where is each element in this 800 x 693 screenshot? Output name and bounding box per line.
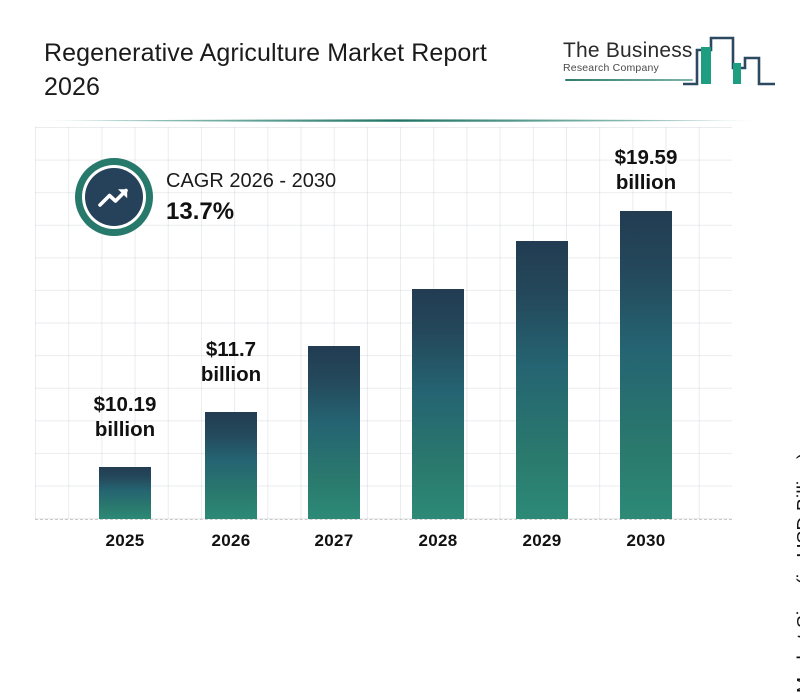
cagr-label: CAGR 2026 - 2030: [166, 168, 336, 194]
x-axis-label-2027: 2027: [279, 531, 389, 551]
bar-2029[interactable]: [516, 241, 568, 519]
bar-2028[interactable]: [412, 289, 464, 519]
bar-value-amount-2025: $10.19: [70, 392, 180, 417]
bar-value-label-2026: $11.7 billion: [176, 337, 286, 387]
y-axis-title: Market Size (in USD Billion): [794, 453, 800, 693]
bar-value-amount-2030: $19.59: [591, 145, 701, 170]
cagr-badge-disc: [85, 168, 143, 226]
cagr-badge: [75, 158, 153, 236]
chart-page: Regenerative Agriculture Market Report 2…: [0, 0, 800, 600]
x-axis-label-2030: 2030: [591, 531, 701, 551]
trending-up-arrow-icon: [97, 184, 131, 210]
bar-2026[interactable]: [205, 412, 257, 519]
bar-value-unit-2030: billion: [591, 170, 701, 195]
x-axis-label-2026: 2026: [176, 531, 286, 551]
cagr-badge-ring: [82, 165, 146, 229]
x-axis-label-2025: 2025: [70, 531, 180, 551]
bar-value-amount-2026: $11.7: [176, 337, 286, 362]
bar-value-label-2025: $10.19 billion: [70, 392, 180, 442]
cagr-value: 13.7%: [166, 196, 336, 228]
bar-value-label-2030: $19.59 billion: [591, 145, 701, 195]
bar-value-unit-2025: billion: [70, 417, 180, 442]
cagr-text-block: CAGR 2026 - 2030 13.7%: [166, 168, 336, 228]
bar-2030[interactable]: [620, 211, 672, 519]
x-axis-label-2028: 2028: [383, 531, 493, 551]
bar-value-unit-2026: billion: [176, 362, 286, 387]
bar-2025[interactable]: [99, 467, 151, 519]
bar-series: $10.19 billion 2025 $11.7 billion 2026 2…: [0, 0, 800, 600]
x-axis-label-2029: 2029: [487, 531, 597, 551]
bar-2027[interactable]: [308, 346, 360, 519]
